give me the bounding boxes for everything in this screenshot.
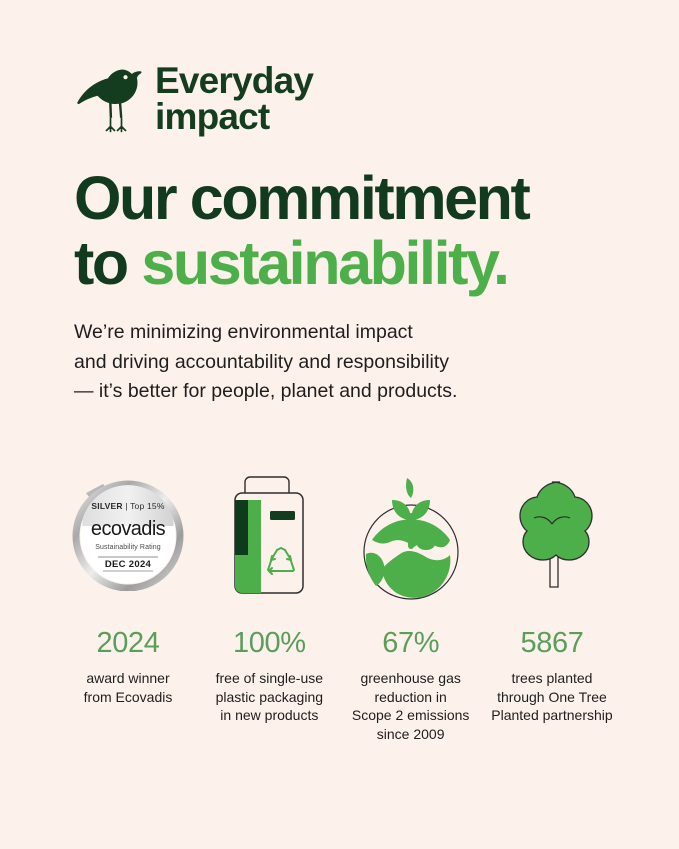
stat-caption-line: trees planted — [491, 669, 612, 688]
badge-date: DEC 2024 — [72, 559, 184, 570]
stat-value-emissions: 67% — [382, 629, 439, 658]
stat-caption-line: plastic packaging — [216, 688, 323, 707]
headline-line-2-prefix: to — [74, 229, 141, 297]
sustainability-infographic: Everyday impact Our commitment to sustai… — [0, 0, 679, 849]
headline-line-2: to sustainability. — [74, 231, 634, 296]
recyclable-packaging-icon — [221, 462, 317, 607]
headline-line-1: Our commitment — [74, 166, 634, 231]
badge-rank: Top 15% — [130, 501, 164, 511]
stat-card-ecovadis: SILVER | Top 15% ecovadis Sustainability… — [60, 462, 196, 706]
badge-tier: SILVER — [91, 501, 122, 511]
stat-value-packaging: 100% — [233, 629, 306, 658]
stat-caption-line: free of single-use — [216, 669, 323, 688]
stat-caption-line: reduction in — [352, 688, 470, 707]
badge-brand-name: ecovadis — [72, 518, 184, 541]
tree-icon — [496, 462, 608, 607]
brand-logo: Everyday impact — [76, 62, 313, 136]
intro-paragraph: We’re minimizing environmental impact an… — [74, 318, 544, 407]
intro-line-1: We’re minimizing environmental impact — [74, 318, 544, 348]
brand-name-line2: impact — [155, 99, 313, 135]
page-title: Our commitment to sustainability. — [74, 166, 634, 295]
brand-name: Everyday impact — [155, 63, 313, 135]
stat-caption-emissions: greenhouse gas reduction in Scope 2 emis… — [352, 669, 470, 743]
stat-caption-line: greenhouse gas — [352, 669, 470, 688]
stats-row: SILVER | Top 15% ecovadis Sustainability… — [60, 462, 620, 743]
stat-value-ecovadis: 2024 — [97, 629, 160, 658]
stat-card-trees: 5867 trees planted through One Tree Plan… — [484, 462, 620, 725]
headline-accent: sustainability. — [141, 229, 507, 297]
stat-caption-line: award winner — [84, 669, 173, 688]
stat-caption-packaging: free of single-use plastic packaging in … — [216, 669, 323, 725]
stat-caption-line: in new products — [216, 706, 323, 725]
badge-subtitle: Sustainability Rating — [72, 544, 184, 551]
stat-card-packaging: 100% free of single-use plastic packagin… — [201, 462, 337, 725]
badge-separator: | — [123, 501, 130, 511]
intro-line-3: — it’s better for people, planet and pro… — [74, 377, 544, 407]
stat-caption-line: Scope 2 emissions — [352, 706, 470, 725]
ecovadis-medal-icon: SILVER | Top 15% ecovadis Sustainability… — [72, 462, 184, 607]
badge-tier-label: SILVER | Top 15% — [72, 501, 184, 511]
stat-caption-line: since 2009 — [352, 725, 470, 744]
stat-caption-line: through One Tree — [491, 688, 612, 707]
stat-card-emissions: 67% greenhouse gas reduction in Scope 2 … — [343, 462, 479, 743]
stat-value-trees: 5867 — [521, 629, 584, 658]
bird-icon — [76, 62, 142, 136]
brand-name-line1: Everyday — [155, 63, 313, 99]
stat-caption-line: Planted partnership — [491, 706, 612, 725]
stat-caption-trees: trees planted through One Tree Planted p… — [491, 669, 612, 725]
intro-line-2: and driving accountability and responsib… — [74, 348, 544, 378]
stat-caption-ecovadis: award winner from Ecovadis — [84, 669, 173, 706]
globe-sprout-icon — [352, 462, 470, 607]
stat-caption-line: from Ecovadis — [84, 688, 173, 707]
